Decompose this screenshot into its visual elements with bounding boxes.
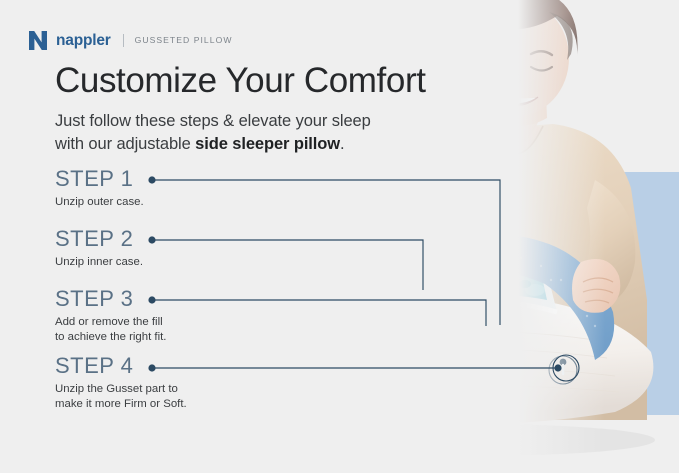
step-1-description: Unzip outer case. <box>55 195 144 210</box>
step-item-3: STEP 3 Add or remove the fill to achieve… <box>55 288 166 346</box>
step-4-description-line-1: Unzip the Gusset part to <box>55 383 178 395</box>
brand-wordmark: nappler <box>56 33 111 49</box>
step-item-2: STEP 2 Unzip inner case. <box>55 228 143 270</box>
step-4-title: STEP 4 <box>55 355 187 377</box>
step-item-4: STEP 4 Unzip the Gusset part to make it … <box>55 355 187 413</box>
connector-dot-step-2 <box>148 236 155 243</box>
step-3-description-line-2: to achieve the right fit. <box>55 331 166 343</box>
step-item-1: STEP 1 Unzip outer case. <box>55 168 144 210</box>
step-3-title: STEP 3 <box>55 288 166 310</box>
nappler-logo-icon <box>28 30 48 51</box>
infographic-canvas: nappler GUSSETED PILLOW Customize Your C… <box>0 0 679 473</box>
brand-header: nappler GUSSETED PILLOW <box>28 30 232 51</box>
subtitle-line-1: Just follow these steps & elevate your s… <box>55 112 371 130</box>
step-3-description-line-1: Add or remove the fill <box>55 316 163 328</box>
subtitle-line-2-prefix: with our adjustable <box>55 135 195 153</box>
product-category-label: GUSSETED PILLOW <box>135 36 233 45</box>
step-2-description: Unzip inner case. <box>55 255 143 270</box>
step-4-description-line-2: make it more Firm or Soft. <box>55 398 187 410</box>
subtitle-emphasis: side sleeper pillow <box>195 135 340 153</box>
page-subtitle: Just follow these steps & elevate your s… <box>55 110 371 157</box>
page-title: Customize Your Comfort <box>55 61 426 100</box>
step-2-title: STEP 2 <box>55 228 143 250</box>
subtitle-line-2-suffix: . <box>340 135 344 153</box>
step-4-description: Unzip the Gusset part to make it more Fi… <box>55 382 187 413</box>
step-1-title: STEP 1 <box>55 168 144 190</box>
step-3-description: Add or remove the fill to achieve the ri… <box>55 315 166 346</box>
brand-divider <box>123 34 124 47</box>
connector-dot-step-1 <box>148 176 155 183</box>
